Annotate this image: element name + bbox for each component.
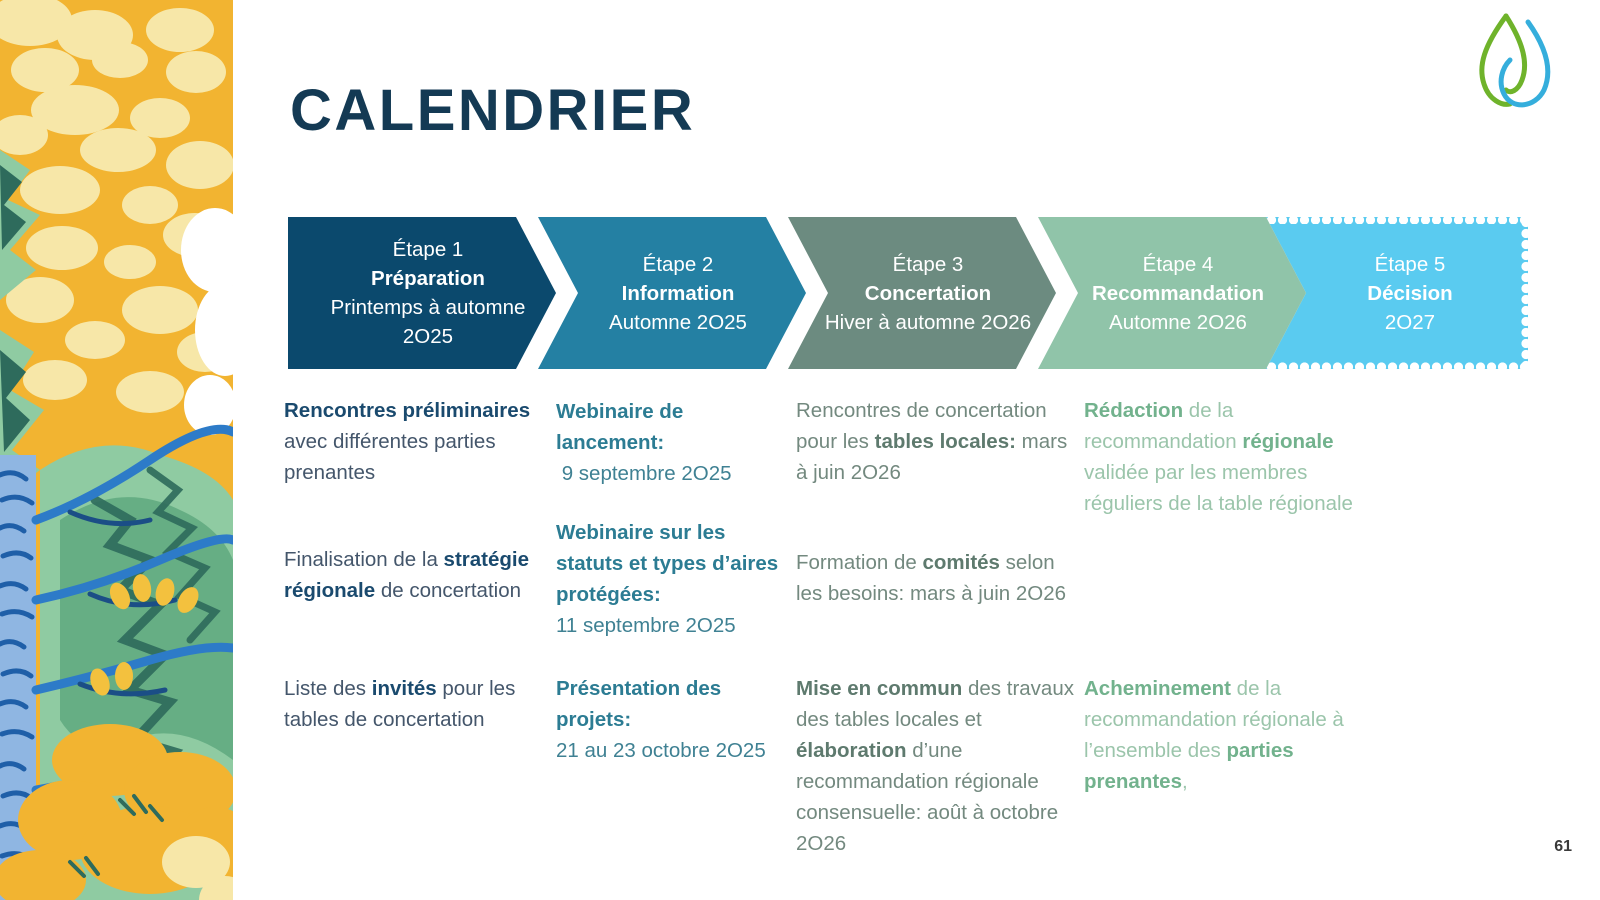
timeline-step-4[interactable]: Étape 4 Recommandation Automne 2O26 [1038, 217, 1306, 369]
page-title: CALENDRIER [290, 82, 695, 140]
recommandation-block-1: Rédaction de la recommandation régionale… [1084, 395, 1374, 519]
information-block-3: Présentation des projets:21 au 23 octobr… [556, 673, 794, 766]
concertation-block-1: Rencontres de concertation pour les tabl… [796, 395, 1078, 488]
preparation-block-1: Rencontres préliminaires avec différente… [284, 395, 554, 488]
timeline-step-3[interactable]: Étape 3 Concertation Hiver à automne 2O2… [788, 217, 1056, 369]
step-1-name: Préparation [331, 264, 526, 293]
timeline-step-2[interactable]: Étape 2 Information Automne 2O25 [538, 217, 806, 369]
step-1-label: Étape 1 [331, 235, 526, 264]
step-4-name: Recommandation [1092, 279, 1264, 308]
recommandation-block-3: Acheminement de la recommandation région… [1084, 673, 1374, 797]
preparation-block-2: Finalisation de la stratégie régionale d… [284, 544, 554, 606]
step-5-label: Étape 5 [1367, 250, 1452, 279]
stamp-edge-top [1266, 215, 1528, 224]
step-3-period-line1: Hiver à automne 2O26 [825, 308, 1031, 337]
step-3-name: Concertation [825, 279, 1031, 308]
timeline-step-1[interactable]: Étape 1 Préparation Printemps à automne … [288, 217, 556, 369]
leaf-droplet-logo [1462, 8, 1558, 118]
concertation-block-3: Mise en commun des travaux des tables lo… [796, 673, 1078, 859]
preparation-block-3: Liste des invités pour les tables de con… [284, 673, 554, 735]
step-1-period-line2: 2O25 [331, 322, 526, 351]
concertation-block-2: Formation de comités selon les besoins: … [796, 547, 1078, 609]
information-block-1: Webinaire de lancement: 9 septembre 2O25 [556, 396, 794, 489]
stamp-edge-bottom [1266, 362, 1528, 371]
step-2-name: Information [609, 279, 747, 308]
step-5-name: Décision [1367, 279, 1452, 308]
step-1-period-line1: Printemps à automne [331, 293, 526, 322]
step-4-period-line1: Automne 2O26 [1092, 308, 1264, 337]
detail-columns: Rencontres préliminaires avec différente… [284, 392, 1544, 872]
stamp-edge-right [1521, 217, 1530, 369]
step-3-label: Étape 3 [825, 250, 1031, 279]
step-2-label: Étape 2 [609, 250, 747, 279]
timeline-chevrons: Étape 1 Préparation Printemps à automne … [288, 217, 1528, 369]
step-5-period-line1: 2O27 [1367, 308, 1452, 337]
forest-birch-illustration [0, 0, 233, 900]
information-block-2: Webinaire sur les statuts et types d’air… [556, 517, 794, 641]
step-4-label: Étape 4 [1092, 250, 1264, 279]
step-2-period-line1: Automne 2O25 [609, 308, 747, 337]
slide-calendrier: CALENDRIER Étape 1 Préparation Printemps… [0, 0, 1600, 900]
page-number: 61 [1554, 838, 1572, 856]
